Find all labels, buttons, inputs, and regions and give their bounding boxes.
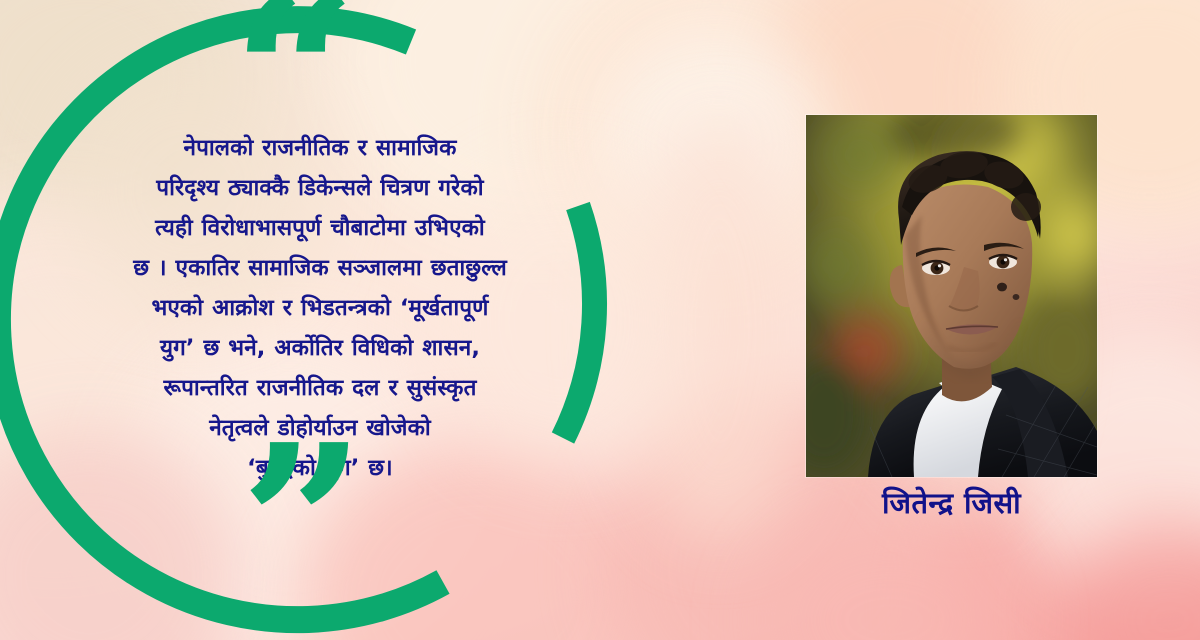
quote-line: त्यही विरोधाभासपूर्ण चौबाटोमा उभिएको	[70, 208, 570, 248]
author-name: जितेन्द्र जिसी	[806, 484, 1097, 522]
author-photo	[806, 115, 1097, 477]
quote-line: भएको आक्रोश र भिडतन्त्रको ‘मूर्खतापूर्ण	[70, 288, 570, 328]
quote-line: परिदृश्य ठ्याक्कै डिकेन्सले चित्रण गरेको	[70, 168, 570, 208]
quote-line: छ । एकातिर सामाजिक सञ्जालमा छताछुल्ल	[70, 248, 570, 288]
quote-line: युग’ छ भने, अर्कोतिर विधिको शासन,	[70, 328, 570, 368]
quote-card: “ नेपालको राजनीतिक र सामाजिक परिदृश्य ठ्…	[0, 0, 1200, 640]
quote-line: नेपालको राजनीतिक र सामाजिक	[70, 128, 570, 168]
close-quote-icon: ”	[240, 416, 363, 634]
